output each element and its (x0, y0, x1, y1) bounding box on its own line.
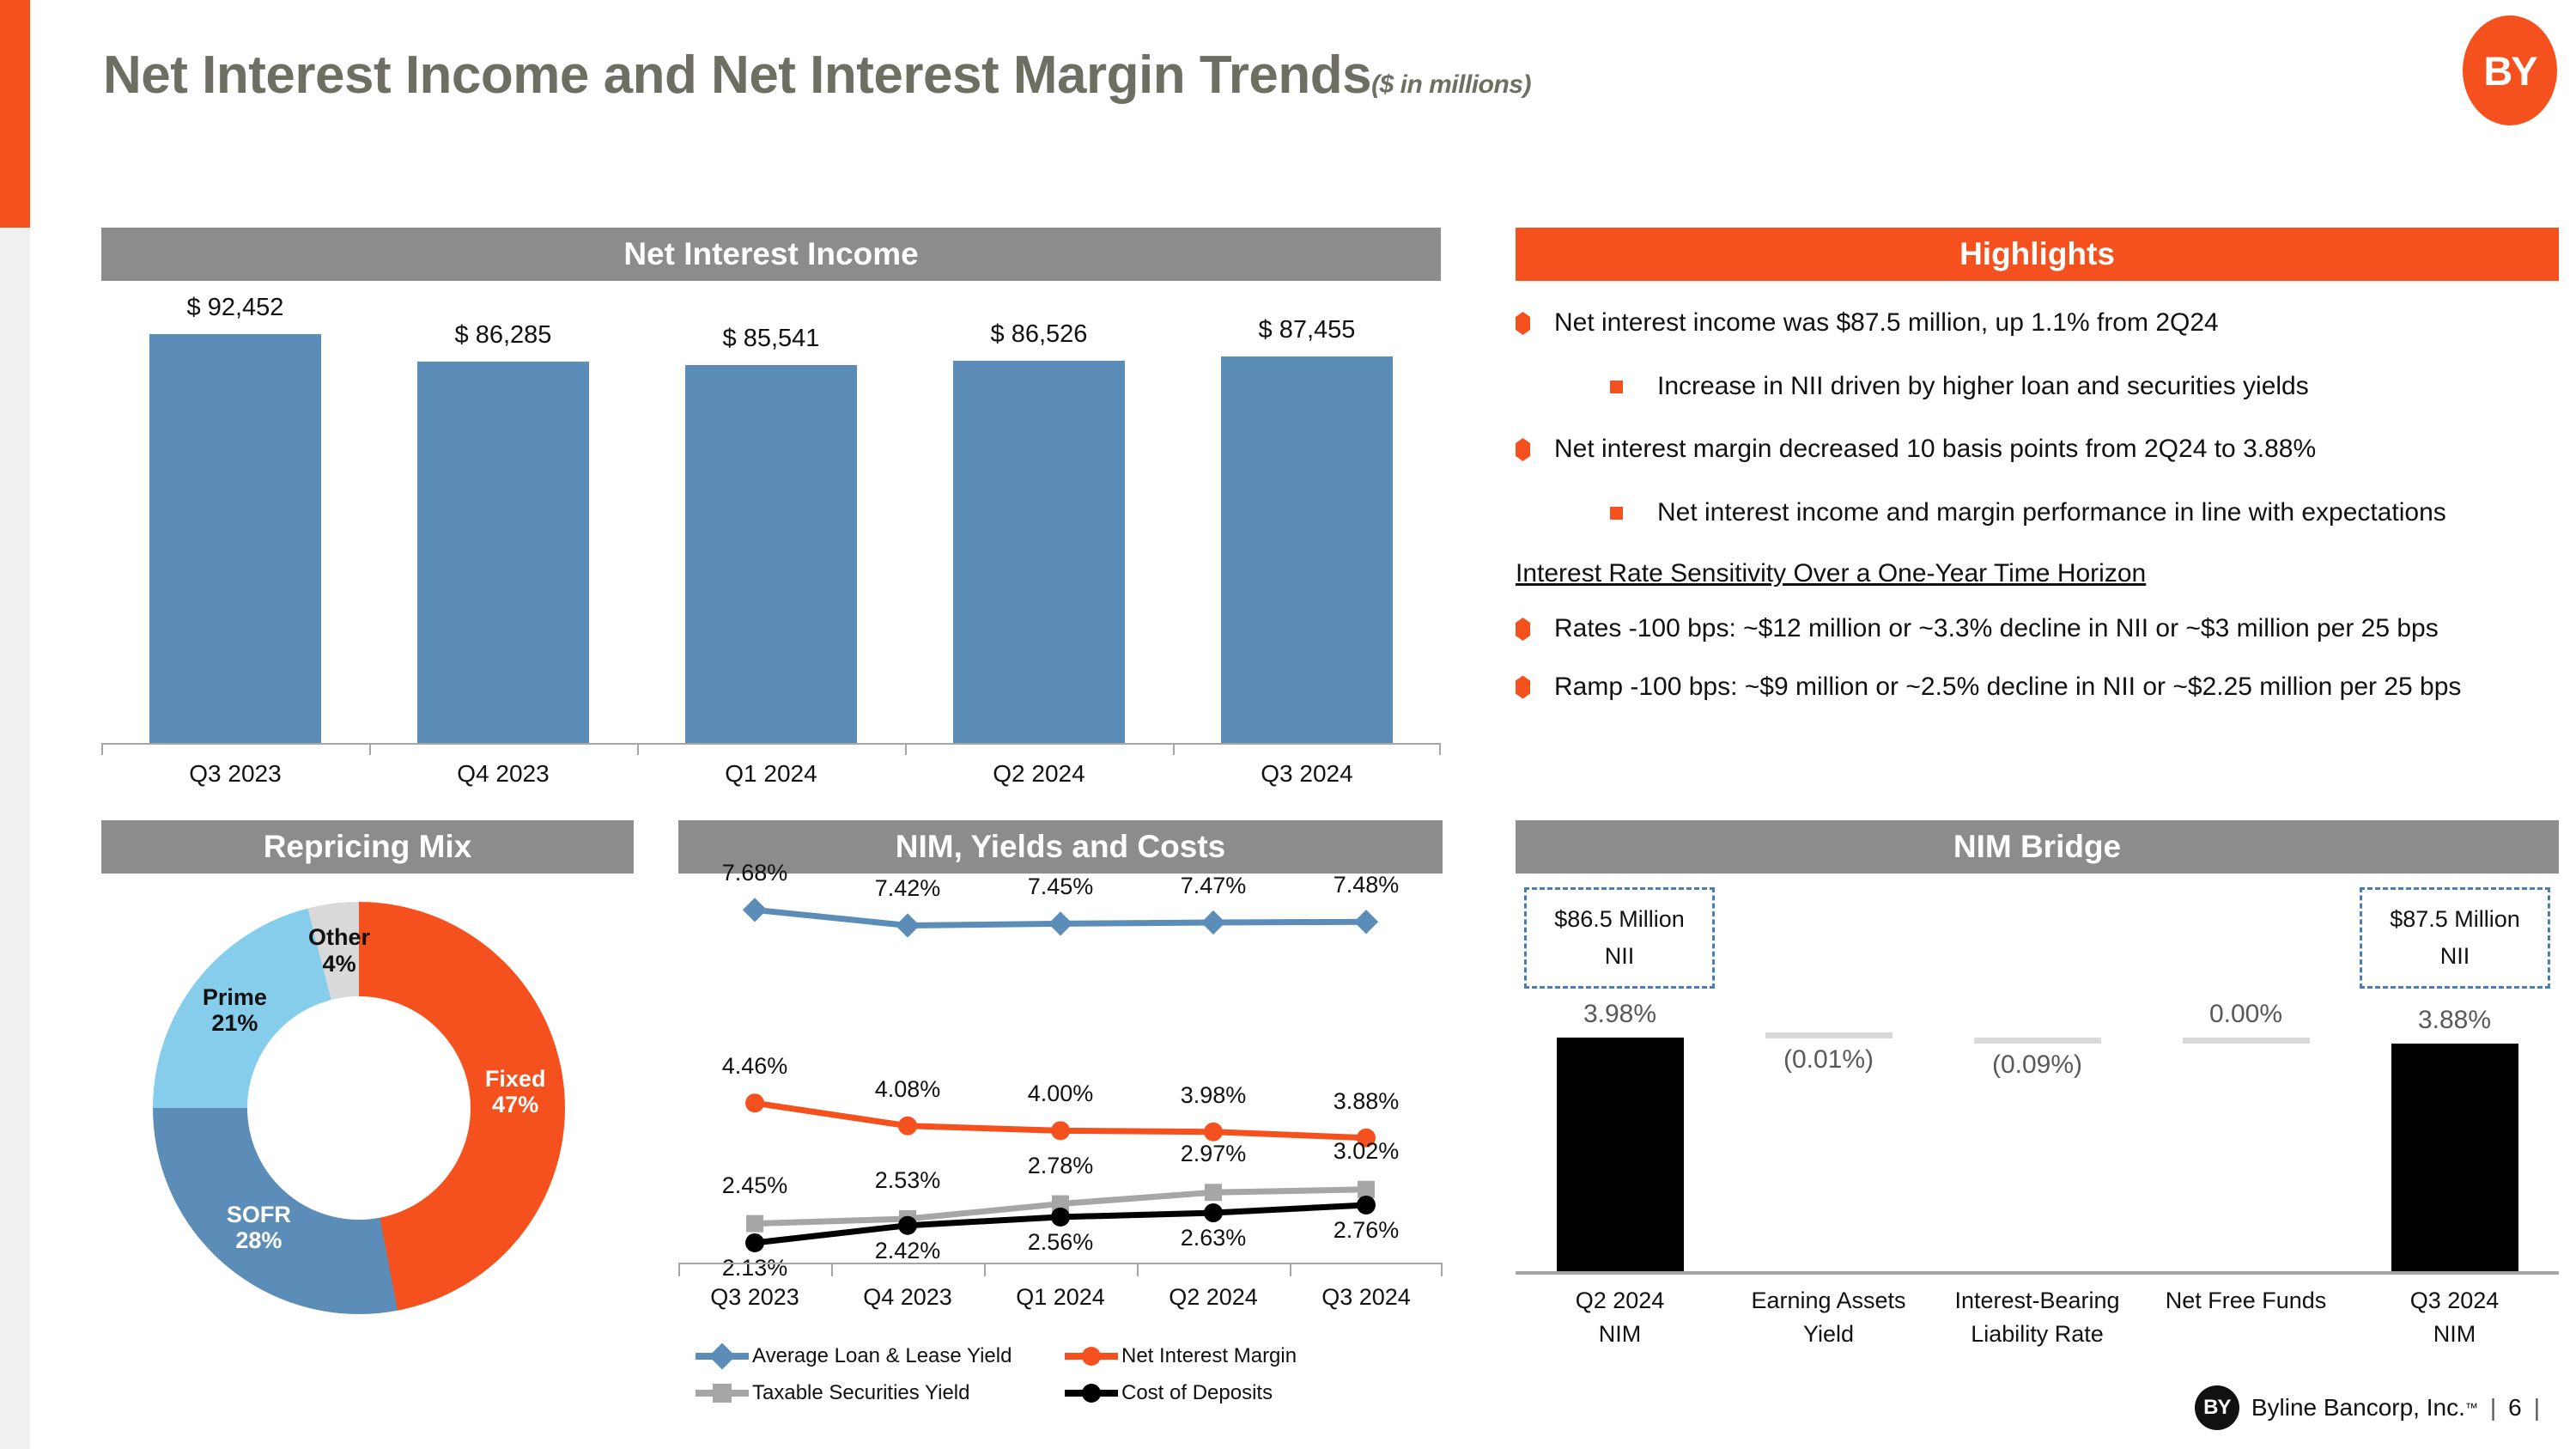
nii-bar-group: $ 86,526 (953, 296, 1125, 743)
nim-bridge-value-label: (0.01%) (1735, 1045, 1923, 1075)
line-data-label: 7.45% (992, 874, 1129, 900)
highlight-bullet-text: Net interest income was $87.5 million, u… (1530, 307, 2219, 339)
nii-bar (1221, 356, 1393, 743)
annotation-nii-amount: $87.5 Million (2390, 901, 2520, 938)
nii-category-label: Q3 2023 (132, 760, 338, 788)
legend-item: Taxable Securities Yield (696, 1381, 1065, 1405)
sensitivity-bullet-text: Rates -100 bps: ~$12 million or ~3.3% de… (1530, 612, 2439, 645)
line-data-label: 3.88% (1297, 1088, 1435, 1115)
data-point-marker (1357, 1196, 1376, 1215)
line-data-label: 3.02% (1297, 1138, 1435, 1165)
annotation-nii-amount: $86.5 Million (1554, 901, 1685, 938)
legend-marker-square-icon (713, 1384, 732, 1403)
page-title-units: ($ in millions) (1371, 70, 1531, 99)
bullet-square-icon (1610, 381, 1623, 393)
nii-bar (685, 365, 857, 743)
data-point-marker (1051, 1121, 1070, 1140)
data-point-marker (1204, 1203, 1223, 1222)
footer-company: Byline Bancorp, Inc. (2251, 1394, 2465, 1422)
legend-line-swatch (1065, 1353, 1118, 1360)
nii-category-label: Q1 2024 (668, 760, 874, 788)
left-accent-bar (0, 0, 30, 228)
nim-bridge-cat-line1: Interest-Bearing (1954, 1288, 2119, 1313)
nim-bridge-bar (1557, 1038, 1684, 1271)
data-point-marker (745, 1093, 764, 1112)
nim-bridge-bar (2391, 1044, 2518, 1271)
nim-yields-category-label: Q1 2024 (983, 1284, 1138, 1311)
data-point-marker (1358, 1181, 1375, 1198)
panel-header-highlights: Highlights (1516, 228, 2559, 281)
nim-bridge-bar (1765, 1032, 1893, 1038)
data-point-marker (898, 1117, 917, 1135)
nii-axis-tick (369, 745, 371, 755)
data-point-marker (1205, 1184, 1222, 1201)
highlight-bullet-text: Net interest margin decreased 10 basis p… (1530, 433, 2316, 466)
chart-repricing-mix: Fixed47%SOFR28%Prime21%Other4% (101, 820, 634, 1404)
donut-slice-name: Fixed (485, 1066, 546, 1092)
nii-axis-tick (1173, 745, 1175, 755)
nim-bridge-category-label: Interest-BearingLiability Rate (1939, 1284, 2136, 1351)
donut-slice-label: Other4% (275, 924, 404, 976)
bullet-square-icon (1610, 507, 1623, 520)
nim-bridge-value-label: 0.00% (2152, 1000, 2341, 1029)
nim-bridge-category-label: Earning AssetsYield (1730, 1284, 1928, 1351)
nim-bridge-category-label: Q3 2024NIM (2356, 1284, 2554, 1351)
nim-yields-category-label: Q3 2024 (1289, 1284, 1443, 1311)
nim-yields-axis-tick (678, 1264, 680, 1276)
nii-bar-value-label: $ 87,455 (1204, 316, 1410, 344)
donut-chart: Fixed47%SOFR28%Prime21%Other4% (153, 902, 565, 1314)
donut-slice-label: SOFR28% (194, 1202, 323, 1253)
footer-divider-right: | (2534, 1394, 2540, 1422)
legend-item: Cost of Deposits (1065, 1381, 1434, 1405)
line-data-label: 2.63% (1145, 1225, 1282, 1251)
data-point-marker (1354, 910, 1378, 934)
nim-bridge-category-label: Q2 2024NIM (1522, 1284, 1719, 1351)
nii-x-axis (101, 743, 1441, 753)
highlight-bullet-item: Net interest income was $87.5 million, u… (1516, 307, 2559, 339)
legend-marker-circle-icon (1082, 1347, 1101, 1366)
nii-axis-tick (101, 745, 103, 755)
bullet-hexagon-icon (1516, 676, 1530, 699)
sensitivity-bullet-item: Ramp -100 bps: ~$9 million or ~2.5% decl… (1516, 671, 2559, 703)
nim-bridge-cat-line1: Net Free Funds (2166, 1288, 2327, 1313)
nii-bar-group: $ 87,455 (1221, 296, 1393, 743)
donut-slice-name: Prime (203, 984, 267, 1010)
nii-category-label: Q3 2024 (1204, 760, 1410, 788)
legend-row: Taxable Securities YieldCost of Deposits (696, 1381, 1443, 1405)
bullet-hexagon-icon (1516, 618, 1530, 641)
nim-yields-axis-tick (1137, 1264, 1139, 1276)
data-point-marker (1051, 1208, 1070, 1227)
line-data-label: 7.48% (1297, 872, 1435, 898)
nim-yields-category-label: Q4 2023 (830, 1284, 985, 1311)
highlights-list: Net interest income was $87.5 million, u… (1516, 307, 2559, 728)
line-data-label: 7.42% (839, 875, 976, 902)
sensitivity-bullet-item: Rates -100 bps: ~$12 million or ~3.3% de… (1516, 612, 2559, 645)
annotation-nii-label: NII (1605, 938, 1635, 975)
legend-marker-diamond-icon (708, 1342, 735, 1369)
legend-label: Taxable Securities Yield (752, 1381, 969, 1405)
page-title: Net Interest Income and Net Interest Mar… (103, 45, 1531, 106)
nii-plot-area: $ 92,452$ 86,285$ 85,541$ 86,526$ 87,455 (101, 296, 1441, 743)
nim-bridge-category-label: Net Free Funds (2148, 1284, 2345, 1318)
highlight-bullet-item: Increase in NII driven by higher loan an… (1516, 370, 2559, 403)
sensitivity-bullet-text: Ramp -100 bps: ~$9 million or ~2.5% decl… (1530, 671, 2461, 703)
donut-slice-value: 28% (235, 1227, 282, 1253)
nii-bar-value-label: $ 85,541 (668, 325, 874, 353)
nim-bridge-value-label: 3.88% (2360, 1006, 2549, 1035)
highlight-bullet-text: Increase in NII driven by higher loan an… (1623, 370, 2309, 403)
line-data-label: 2.56% (992, 1229, 1129, 1256)
line-data-label: 2.45% (686, 1172, 823, 1199)
nim-yields-axis-tick (1290, 1264, 1291, 1276)
highlight-bullet-item: Net interest margin decreased 10 basis p… (1516, 433, 2559, 466)
nim-bridge-cat-line2: Liability Rate (1971, 1321, 2104, 1347)
legend-line-swatch (696, 1390, 749, 1397)
nii-bar (953, 361, 1125, 743)
bullet-hexagon-icon (1516, 312, 1530, 335)
line-data-label: 7.68% (686, 860, 823, 886)
brand-logo-icon: BY (2463, 15, 2557, 125)
nim-yields-category-label: Q3 2023 (677, 1284, 832, 1311)
nii-category-label: Q4 2023 (400, 760, 606, 788)
nim-bridge-annotation-right: $87.5 MillionNII (2360, 887, 2550, 989)
page-title-main: Net Interest Income and Net Interest Mar… (103, 46, 1371, 105)
donut-slice-name: Other (308, 924, 370, 950)
nii-bar-value-label: $ 86,526 (936, 320, 1142, 349)
nii-axis-tick (637, 745, 639, 755)
nim-bridge-cat-line1: Earning Assets (1751, 1288, 1905, 1313)
footer-trademark: ™ (2465, 1401, 2478, 1416)
nim-bridge-value-label: (0.09%) (1943, 1050, 2132, 1080)
legend-label: Average Loan & Lease Yield (752, 1344, 1012, 1368)
line-data-label: 2.53% (839, 1167, 976, 1194)
data-point-marker (1048, 911, 1072, 935)
nii-bar-group: $ 86,285 (417, 296, 589, 743)
data-point-marker (1204, 1123, 1223, 1142)
line-data-label: 4.00% (992, 1081, 1129, 1107)
nii-bar (149, 334, 321, 743)
data-point-marker (743, 898, 767, 922)
donut-slice-value: 21% (211, 1010, 258, 1036)
nii-bar-value-label: $ 86,285 (400, 321, 606, 350)
nim-bridge-cat-line2: Yield (1803, 1321, 1854, 1347)
line-data-label: 4.46% (686, 1053, 823, 1080)
legend-label: Net Interest Margin (1121, 1344, 1297, 1368)
nim-bridge-annotation-left: $86.5 MillionNII (1524, 887, 1715, 989)
footer-logo-icon: BY (2195, 1385, 2239, 1430)
nii-axis-tick (905, 745, 907, 755)
legend-item: Net Interest Margin (1065, 1344, 1434, 1368)
nii-bar-value-label: $ 92,452 (132, 294, 338, 322)
data-point-marker (746, 1215, 763, 1233)
legend-label: Cost of Deposits (1121, 1381, 1273, 1405)
nim-yields-category-label: Q2 2024 (1136, 1284, 1291, 1311)
line-data-label: 2.76% (1297, 1217, 1435, 1244)
chart-nim-bridge: $86.5 MillionNII $87.5 MillionNII Q2 202… (1516, 820, 2559, 1422)
nim-bridge-value-label: 3.98% (1526, 1000, 1715, 1029)
line-data-label: 2.42% (839, 1238, 976, 1264)
donut-slice-value: 47% (492, 1092, 538, 1117)
data-point-marker (898, 1216, 917, 1235)
donut-slice-name: SOFR (227, 1202, 291, 1227)
legend-row: Average Loan & Lease YieldNet Interest M… (696, 1344, 1443, 1368)
nii-category-label: Q2 2024 (936, 760, 1142, 788)
chart-nim-yields-costs: 7.68%7.42%7.45%7.47%7.48%4.46%4.08%4.00%… (678, 820, 1443, 1422)
nim-yields-axis-tick (1441, 1264, 1443, 1276)
page-number: 6 (2508, 1394, 2522, 1422)
data-point-marker (896, 913, 920, 937)
nim-bridge-bar (2183, 1038, 2310, 1044)
nim-yields-axis-tick (831, 1264, 833, 1276)
nii-bar-group: $ 85,541 (685, 296, 857, 743)
panel-header-net-interest-income: Net Interest Income (101, 228, 1441, 281)
line-data-label: 4.08% (839, 1076, 976, 1103)
line-data-label: 2.78% (992, 1153, 1129, 1179)
chart-net-interest-income: $ 92,452$ 86,285$ 85,541$ 86,526$ 87,455… (101, 296, 1441, 795)
nim-yields-x-axis (678, 1263, 1443, 1275)
data-point-marker (1201, 910, 1225, 935)
annotation-nii-label: NII (2440, 938, 2470, 975)
donut-slice-label: Prime21% (170, 984, 299, 1036)
nim-bridge-cat-line2: NIM (1599, 1321, 1642, 1347)
line-data-label: 7.47% (1145, 873, 1282, 899)
nim-yields-legend: Average Loan & Lease YieldNet Interest M… (696, 1344, 1443, 1418)
bullet-hexagon-icon (1516, 438, 1530, 461)
nii-bar (417, 362, 589, 743)
footer: BY Byline Bancorp, Inc.™ | 6 | (2195, 1385, 2552, 1430)
line-data-label: 3.98% (1145, 1082, 1282, 1109)
legend-marker-circle-icon (1082, 1384, 1101, 1403)
data-point-marker (745, 1233, 764, 1252)
footer-divider-left: | (2490, 1394, 2496, 1422)
highlight-bullet-item: Net interest income and margin performan… (1516, 496, 2559, 529)
nim-bridge-bar (1974, 1038, 2101, 1044)
donut-slice-value: 4% (323, 951, 356, 977)
line-data-label: 2.97% (1145, 1141, 1282, 1167)
legend-line-swatch (1065, 1390, 1118, 1397)
nim-yields-axis-tick (984, 1264, 986, 1276)
legend-line-swatch (696, 1353, 749, 1360)
nim-bridge-x-axis (1516, 1271, 2559, 1275)
interest-rate-sensitivity-title: Interest Rate Sensitivity Over a One-Yea… (1516, 559, 2559, 588)
highlight-bullet-text: Net interest income and margin performan… (1623, 496, 2446, 529)
nii-bar-group: $ 92,452 (149, 296, 321, 743)
nim-bridge-cat-line1: Q3 2024 (2410, 1288, 2500, 1313)
nim-bridge-cat-line2: NIM (2433, 1321, 2476, 1347)
left-gray-strip (0, 228, 30, 1449)
legend-item: Average Loan & Lease Yield (696, 1344, 1065, 1368)
donut-slice-label: Fixed47% (451, 1066, 580, 1117)
nii-axis-tick (1439, 745, 1441, 755)
nim-bridge-cat-line1: Q2 2024 (1576, 1288, 1665, 1313)
